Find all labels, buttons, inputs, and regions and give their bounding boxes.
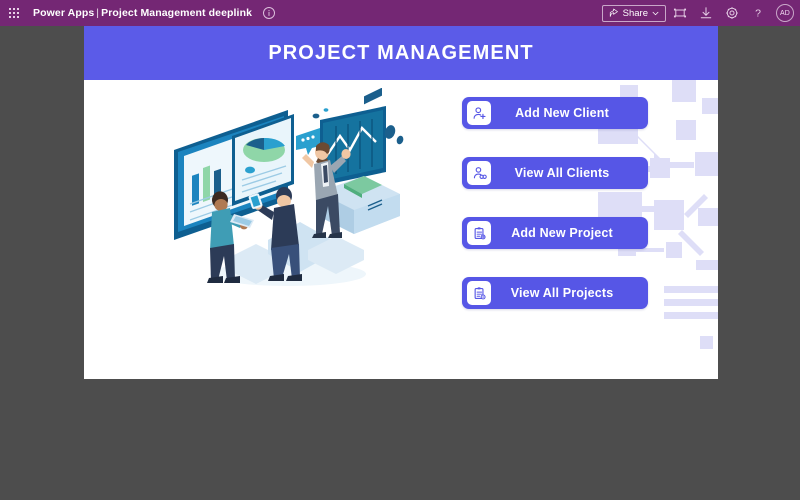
waffle-dot: [9, 16, 11, 18]
title-separator: |: [94, 7, 101, 19]
download-icon[interactable]: [694, 2, 718, 24]
info-circle-icon[interactable]: [262, 6, 276, 20]
share-export-icon: [609, 8, 619, 18]
screen-frame-icon[interactable]: [668, 2, 692, 24]
business-team-dashboard-illustration: [168, 88, 418, 298]
waffle-dot: [13, 16, 15, 18]
clipboard-view-icon: [467, 281, 491, 305]
add-new-project-button[interactable]: Add New Project: [462, 217, 648, 249]
people-group-icon: [467, 161, 491, 185]
waffle-dot: [17, 12, 19, 14]
app-top-bar: Power Apps|Project Management deeplink S…: [0, 0, 800, 26]
app-title-group: Power Apps|Project Management deeplink: [33, 7, 252, 19]
view-all-clients-button[interactable]: View All Clients: [462, 157, 648, 189]
document-name[interactable]: Project Management deeplink: [101, 7, 252, 19]
waffle-dot: [17, 8, 19, 10]
chevron-down-icon: [652, 10, 659, 17]
avatar[interactable]: AD: [776, 4, 794, 22]
action-button-column: Add New Client View All Clients: [462, 97, 648, 309]
clipboard-add-icon: [467, 221, 491, 245]
gear-icon[interactable]: [720, 2, 744, 24]
avatar-initials: AD: [780, 10, 790, 17]
share-label: Share: [623, 8, 648, 19]
help-icon[interactable]: ?: [746, 2, 770, 24]
waffle-menu-icon[interactable]: [4, 2, 24, 24]
waffle-dot: [9, 12, 11, 14]
add-new-client-button[interactable]: Add New Client: [462, 97, 648, 129]
brand-label[interactable]: Power Apps: [33, 7, 94, 19]
waffle-dot: [13, 8, 15, 10]
person-add-icon: [467, 101, 491, 125]
waffle-dot: [9, 8, 11, 10]
app-canvas: PROJECT MANAGEMENT: [84, 26, 718, 379]
share-button[interactable]: Share: [602, 5, 666, 22]
svg-text:?: ?: [755, 8, 761, 20]
view-all-projects-button[interactable]: View All Projects: [462, 277, 648, 309]
waffle-dot: [13, 12, 15, 14]
page-banner: PROJECT MANAGEMENT: [84, 26, 718, 80]
canvas-stage: Add New Client View All Clients: [84, 80, 718, 379]
waffle-dot: [17, 16, 19, 18]
page-title: PROJECT MANAGEMENT: [268, 42, 533, 65]
waffle-grid: [9, 8, 18, 17]
